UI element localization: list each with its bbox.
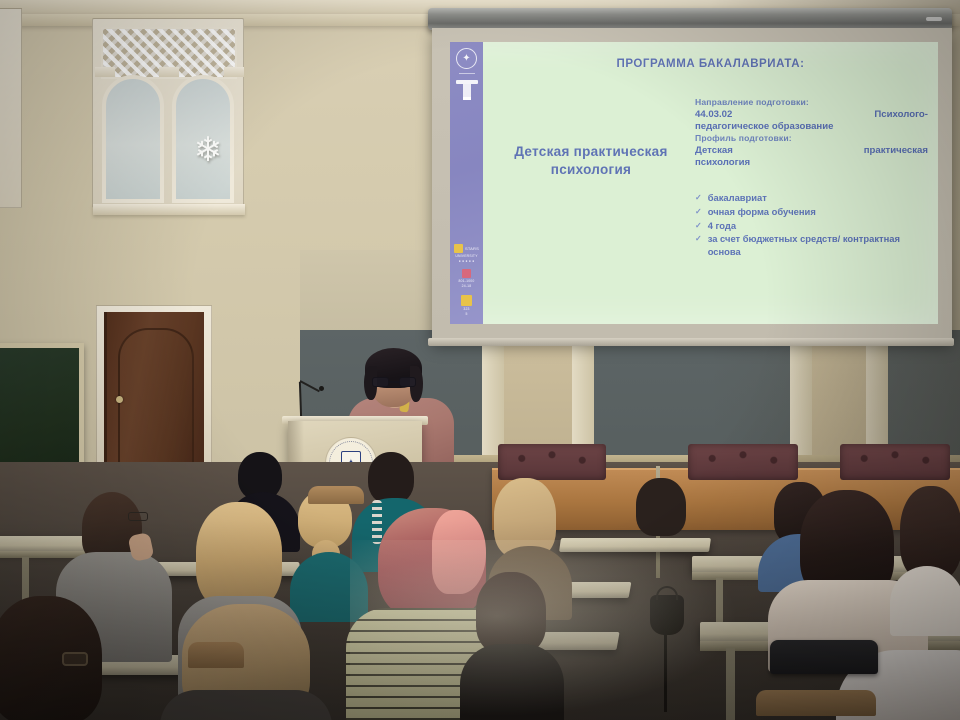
presentation-slide: ✦ STARS UNIVERSITY ● ● ● ● ● 801-1000 24… <box>450 42 938 324</box>
door-panel <box>118 328 194 470</box>
wall-pilaster <box>482 330 504 462</box>
stars-chip-icon <box>454 244 463 253</box>
direction-code: 44.03.02 <box>695 109 732 121</box>
bullet-text: бакалавриат <box>708 192 767 205</box>
list-item: ✓ 4 года <box>695 220 928 233</box>
qs-chip-icon <box>461 295 472 306</box>
glasses-icon <box>128 512 148 521</box>
wooden-door[interactable] <box>104 312 204 477</box>
field-value-direction-line1: 44.03.02 Психолого- <box>695 109 928 121</box>
bullet-text: за счет бюджетных средств/ контрактная о… <box>708 233 928 258</box>
bullet-text: 4 года <box>708 220 736 233</box>
handbag-strap-hanging <box>664 632 667 712</box>
window-pane-left <box>102 75 164 203</box>
desk-surface <box>559 538 711 552</box>
field-value-profile-line2: психология <box>695 157 928 169</box>
chair-back[interactable] <box>308 486 364 504</box>
lecture-hall-scene: ❄ ✦ STARS UNIVERS <box>0 0 960 720</box>
field-value-profile-line1: Детская практическая <box>695 145 928 157</box>
glasses-icon <box>62 652 88 666</box>
bench-seat-cushion <box>688 444 798 480</box>
window-edge-left <box>0 8 22 208</box>
glasses-icon <box>372 377 416 387</box>
program-heading: Детская практическая психология <box>493 143 689 179</box>
list-item: ✓ очная форма обучения <box>695 206 928 219</box>
the-ranking-badge: 801-1000 24-18 <box>459 269 475 289</box>
qs-ranking-badge: 323 5 <box>461 295 472 317</box>
window-capital <box>224 67 244 77</box>
wall-panel-beige-left <box>492 330 580 462</box>
field-label-direction: Направление подготовки: <box>695 97 928 109</box>
window-capital <box>159 67 179 77</box>
projector-screen-housing <box>428 8 952 30</box>
slide-sidebar: ✦ STARS UNIVERSITY ● ● ● ● ● 801-1000 24… <box>450 42 483 324</box>
window-sill <box>93 204 245 215</box>
profile-value-a: Детская <box>695 145 733 157</box>
direction-value: Психолого- <box>874 109 928 121</box>
list-item: ✓ за счет бюджетных средств/ контрактная… <box>695 233 928 258</box>
column-pillar-icon <box>456 80 478 100</box>
chair-back[interactable] <box>188 642 244 668</box>
microphone-head-icon <box>319 386 324 391</box>
ranking-badges: STARS UNIVERSITY ● ● ● ● ● 801-1000 24-1… <box>450 244 483 317</box>
list-item: ✓ бакалавриат <box>695 192 928 205</box>
check-icon: ✓ <box>695 220 702 233</box>
field-label-profile: Профиль подготовки: <box>695 133 928 145</box>
chair-back[interactable] <box>756 690 876 716</box>
desk-leg <box>726 648 735 720</box>
snowflake-decoration-icon: ❄ <box>191 133 225 167</box>
bench-seat-cushion <box>498 444 606 480</box>
slide-right-column: Направление подготовки: 44.03.02 Психоло… <box>689 87 928 259</box>
the-chip-icon <box>462 269 471 278</box>
slide-columns: Детская практическая психология Направле… <box>493 87 928 259</box>
gothic-arched-window <box>92 18 244 208</box>
slide-left-column: Детская практическая психология <box>493 87 689 259</box>
profile-value-cont: психология <box>695 157 750 169</box>
pink-hair-highlight <box>432 510 486 594</box>
window-capital <box>95 67 115 77</box>
sweater-trim <box>372 500 382 544</box>
bench-seat-cushion <box>840 444 950 480</box>
sidebar-divider <box>459 73 475 74</box>
profile-value-b: практическая <box>864 145 928 157</box>
green-chalkboard <box>0 343 84 478</box>
stars-rating-badge: STARS UNIVERSITY ● ● ● ● ● <box>454 244 479 264</box>
slide-body: ПРОГРАММА БАКАЛАВРИАТА: Детская практиче… <box>483 42 938 324</box>
door-handle-icon[interactable] <box>116 396 123 403</box>
projector-screen-bottom-bar <box>428 338 954 346</box>
slide-title: ПРОГРАММА БАКАЛАВРИАТА: <box>493 58 928 70</box>
university-seal-icon: ✦ <box>456 48 477 69</box>
direction-value-cont: педагогическое образование <box>695 121 833 133</box>
check-icon: ✓ <box>695 233 702 246</box>
wall-pilaster <box>572 330 594 462</box>
bullet-text: очная форма обучения <box>708 206 816 219</box>
field-value-direction-line2: педагогическое образование <box>695 121 928 133</box>
slide-bullet-list: ✓ бакалавриат ✓ очная форма обучения ✓ 4… <box>695 192 928 259</box>
check-icon: ✓ <box>695 192 702 205</box>
handbag-on-hook <box>650 595 684 635</box>
chair-back[interactable] <box>770 640 878 674</box>
check-icon: ✓ <box>695 206 702 219</box>
